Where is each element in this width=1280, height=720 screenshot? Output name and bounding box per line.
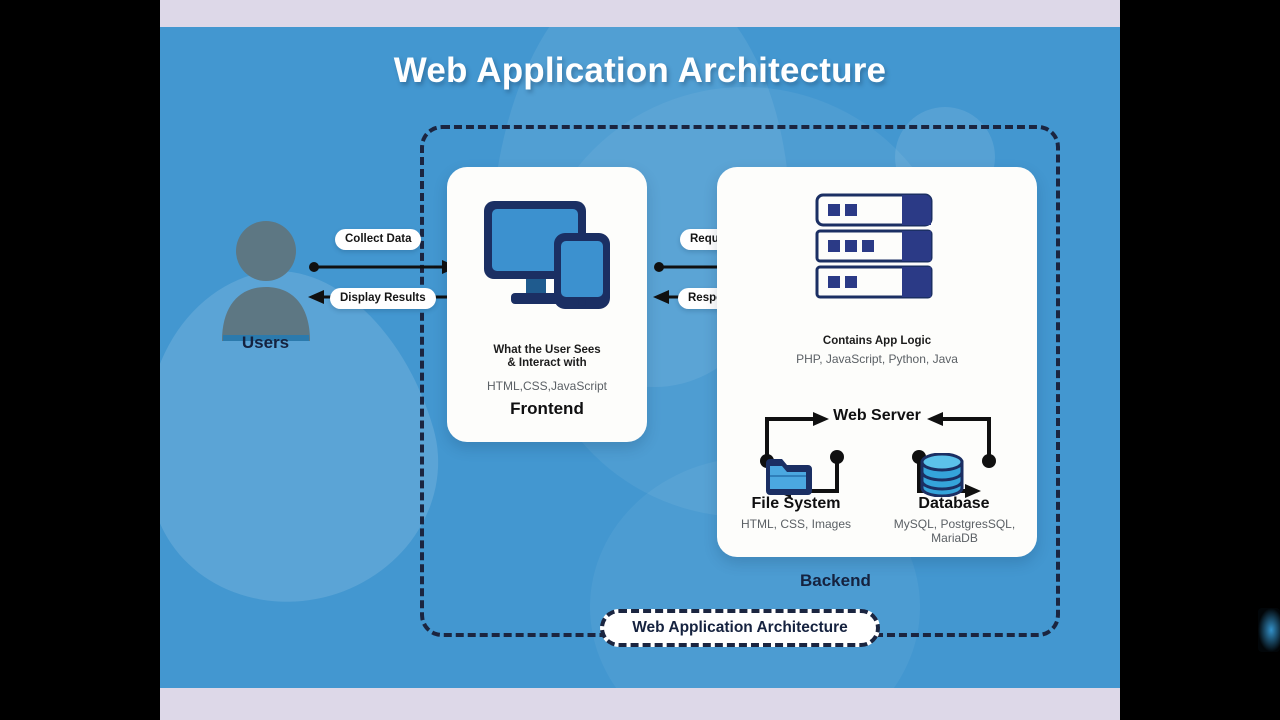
frontend-card[interactable]: What the User Sees & Interact with HTML,…: [447, 167, 647, 442]
folder-icon: [764, 457, 812, 500]
architecture-boundary-label: Web Application Architecture: [600, 609, 880, 647]
frontend-subtitle-line2: & Interact with: [447, 357, 647, 370]
frontend-tech: HTML,CSS,JavaScript: [447, 379, 647, 393]
users-label: Users: [208, 333, 323, 353]
backend-languages: PHP, JavaScript, Python, Java: [717, 352, 1037, 366]
slide-frame-bottom: [160, 688, 1120, 720]
file-system-sub: HTML, CSS, Images: [721, 517, 871, 531]
slide-frame-top: [160, 0, 1120, 27]
flow-label-display-results: Display Results: [330, 288, 436, 309]
backend-card[interactable]: Contains App Logic PHP, JavaScript, Pyth…: [717, 167, 1037, 557]
backend-label: Backend: [800, 571, 871, 591]
flow-label-collect-data: Collect Data: [335, 229, 421, 250]
screen-edge-glow: [1258, 608, 1280, 652]
monitor-and-tablet-icon: [480, 197, 615, 312]
slide-canvas: Web Application Architecture Users Colle: [160, 27, 1120, 688]
database-sub-line1: MySQL, PostgresSQL,: [877, 517, 1032, 531]
frontend-subtitle-line1: What the User Sees: [447, 344, 647, 357]
page-title: Web Application Architecture: [160, 51, 1120, 91]
frontend-subtitle: What the User Sees & Interact with: [447, 344, 647, 370]
backend-app-logic: Contains App Logic: [717, 335, 1037, 347]
slide-stage: Web Application Architecture Users Colle: [0, 0, 1280, 720]
database-sub: MySQL, PostgresSQL, MariaDB: [877, 517, 1032, 545]
server-rack-icon: [814, 192, 934, 302]
database-title: Database: [889, 495, 1019, 513]
file-system-title: File System: [731, 495, 861, 513]
user-silhouette-icon: [218, 217, 314, 342]
frontend-title: Frontend: [447, 399, 647, 419]
database-sub-line2: MariaDB: [877, 531, 1032, 545]
